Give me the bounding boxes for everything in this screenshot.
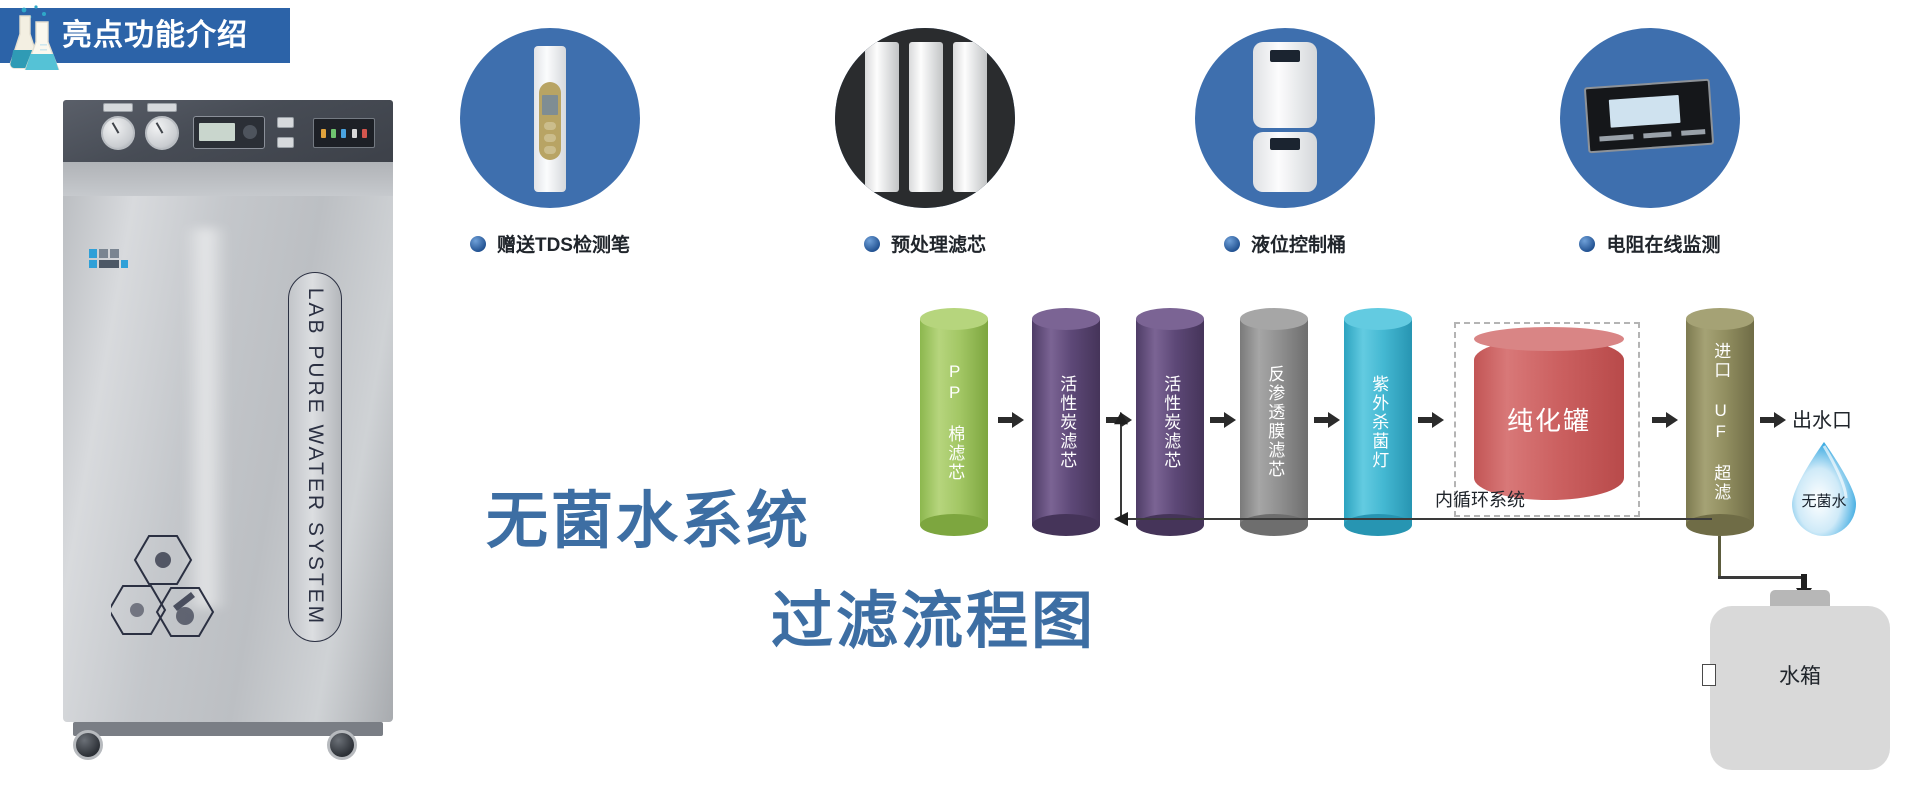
tds-pen-button-3 <box>544 146 556 154</box>
machine-indicator-panel <box>313 118 375 148</box>
tds-pen-button-2 <box>544 134 556 142</box>
flow-arrow-3 <box>1210 412 1236 428</box>
outlet-label: 出水口 <box>1792 404 1852 433</box>
filter-cartridges-photo <box>835 28 1015 208</box>
stage-label: 活性炭滤芯 <box>1032 308 1100 536</box>
cartridge-2 <box>909 42 943 192</box>
stage-label: 反渗透膜滤芯 <box>1240 308 1308 536</box>
feature-level-control-tank[interactable]: 液位控制桶 <box>1180 28 1390 257</box>
bullet-dot-icon <box>470 236 486 252</box>
feature-caption: 电阻在线监测 <box>1545 230 1755 257</box>
feature-label: 电阻在线监测 <box>1606 230 1720 257</box>
tds-pen-lcd <box>542 95 558 115</box>
recirculation-line <box>1120 518 1712 520</box>
feature-label: 预处理滤芯 <box>891 230 986 257</box>
stage-label: PP 棉滤芯 <box>920 308 988 536</box>
purification-tank-label: 纯化罐 <box>1474 338 1624 500</box>
uf-outlet-pipe-horizontal <box>1718 576 1804 579</box>
caster-wheel-left <box>73 730 103 760</box>
pressure-gauge-membrane <box>145 116 179 150</box>
feature-label: 赠送TDS检测笔 <box>497 230 630 257</box>
purification-tank: 纯化罐 <box>1474 338 1624 500</box>
cartridge-1 <box>865 42 899 192</box>
bullet-dot-icon <box>1224 236 1240 252</box>
flow-stage-ro-membrane: 反渗透膜滤芯 <box>1240 308 1308 536</box>
recirculation-arrow-up <box>1113 412 1129 426</box>
flask-icon <box>6 4 68 70</box>
level-tank-badge-upper <box>1270 50 1300 62</box>
feature-resistivity-monitor[interactable]: 电阻在线监测 <box>1545 28 1755 257</box>
recirculation-arrow-left <box>1114 512 1130 526</box>
feature-label: 液位控制桶 <box>1251 230 1346 257</box>
tds-pen-button-1 <box>544 122 556 130</box>
brand-logo <box>89 247 143 271</box>
drop-label: 无菌水 <box>1786 490 1862 511</box>
machine-button-flush[interactable] <box>277 137 294 148</box>
flow-arrow-4 <box>1314 412 1340 428</box>
flow-arrow-outlet <box>1760 412 1786 428</box>
tds-pen-face <box>539 82 561 160</box>
water-tank: 水箱 <box>1710 590 1890 770</box>
flow-stage-activated-carbon-2: 活性炭滤芯 <box>1136 308 1204 536</box>
flow-arrow-1 <box>998 412 1024 428</box>
flow-arrow-6 <box>1652 412 1678 428</box>
molecule-decoration <box>111 532 221 652</box>
feature-caption: 液位控制桶 <box>1180 230 1390 257</box>
cartridge-photo-bg <box>835 28 1015 208</box>
machine-display <box>193 116 265 149</box>
recirculation-label: 内循环系统 <box>1360 486 1600 512</box>
water-system-machine: LAB PURE WATER SYSTEM <box>55 100 400 790</box>
flow-stage-uf-ultrafiltration: 进口 UF 超滤 <box>1686 308 1754 536</box>
filtration-flow-diagram: PP 棉滤芯 活性炭滤芯 活性炭滤芯 反 <box>920 300 1920 800</box>
cartridge-3 <box>953 42 987 192</box>
water-tank-label: 水箱 <box>1710 660 1890 690</box>
water-drop-icon <box>1786 440 1862 536</box>
bullet-dot-icon <box>1579 236 1595 252</box>
stage-label: 活性炭滤芯 <box>1136 308 1204 536</box>
level-tank-shape <box>1253 42 1317 192</box>
machine-control-panel <box>63 100 393 162</box>
monitor-legend <box>1599 129 1705 144</box>
recirculation-riser <box>1120 426 1122 520</box>
highlight-banner: 亮点功能介绍 <box>0 8 290 63</box>
machine-vertical-text: LAB PURE WATER SYSTEM <box>288 272 342 642</box>
gauge-tag-inlet <box>103 103 133 112</box>
resistivity-monitor-shape <box>1584 79 1714 154</box>
machine-button-produce[interactable] <box>277 117 294 128</box>
tds-pen-shape <box>534 46 566 192</box>
flow-arrow-5 <box>1418 412 1444 428</box>
bullet-dot-icon <box>864 236 880 252</box>
uf-outlet-pipe-vertical <box>1718 536 1721 578</box>
feature-caption: 赠送TDS检测笔 <box>445 230 655 257</box>
level-tank-badge-lower <box>1270 138 1300 150</box>
banner-title: 亮点功能介绍 <box>62 21 248 51</box>
flow-stage-pp-cotton-filter: PP 棉滤芯 <box>920 308 988 536</box>
tds-meter-pen-photo <box>460 28 640 208</box>
caster-wheel-right <box>327 730 357 760</box>
level-tank-lower <box>1253 132 1317 192</box>
feature-tds-pen[interactable]: 赠送TDS检测笔 <box>445 28 655 257</box>
monitor-lcd <box>1609 95 1681 128</box>
gauge-tag-membrane <box>147 103 177 112</box>
stage-label: 进口 UF 超滤 <box>1686 308 1754 536</box>
resistivity-monitor-photo <box>1560 28 1740 208</box>
flow-stage-activated-carbon-1: 活性炭滤芯 <box>1032 308 1100 536</box>
pressure-gauge-inlet <box>101 116 135 150</box>
poster-root: 亮点功能介绍 <box>0 0 1920 800</box>
level-tank-photo <box>1195 28 1375 208</box>
machine-cabinet: LAB PURE WATER SYSTEM <box>63 162 393 722</box>
level-tank-upper <box>1253 42 1317 128</box>
feature-caption: 预处理滤芯 <box>820 230 1030 257</box>
feature-pretreatment-filter[interactable]: 预处理滤芯 <box>820 28 1030 257</box>
